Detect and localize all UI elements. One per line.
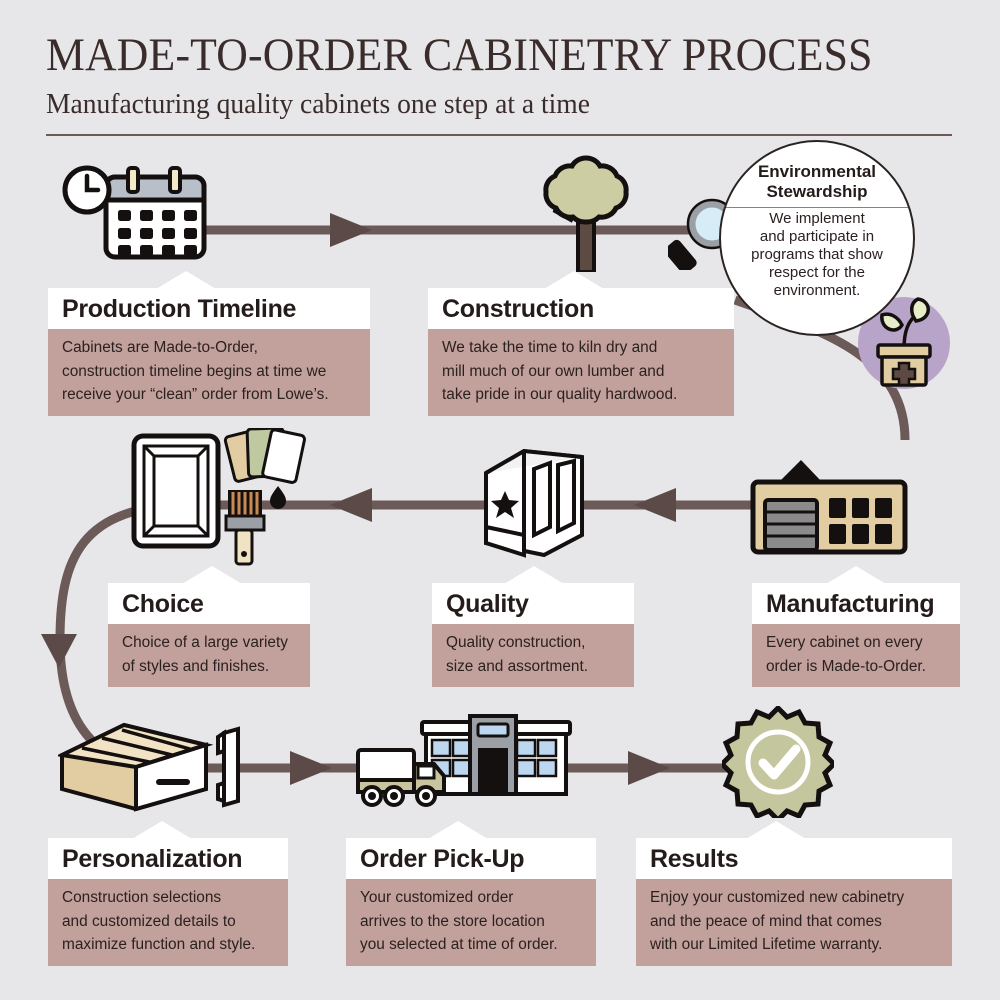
step-body-line: Every cabinet on every [766, 631, 946, 655]
step-body-line: Enjoy your customized new cabinetry [650, 886, 938, 910]
step-body-line: of styles and finishes. [122, 655, 296, 679]
step-body-line: Construction selections [62, 886, 274, 910]
step-body-line: receive your “clean” order from Lowe’s. [62, 383, 356, 407]
step-body-line: take pride in our quality hardwood. [442, 383, 720, 407]
step-title: Personalization [48, 838, 288, 879]
callout-body-line: We implement [751, 210, 883, 228]
step-body-line: Your customized order [360, 886, 582, 910]
callout-body-line: environment. [751, 282, 883, 300]
card-notch [504, 566, 564, 584]
callout-body-line: and participate in [751, 228, 883, 246]
step-title: Quality [432, 583, 634, 624]
cabinet-star-icon [478, 443, 590, 566]
step-card-personalization[interactable]: Personalization Construction selections … [48, 838, 288, 966]
step-body: Every cabinet on every order is Made-to-… [752, 624, 960, 687]
callout-divider [721, 207, 913, 208]
step-body: Your customized order arrives to the sto… [346, 879, 596, 966]
step-card-choice[interactable]: Choice Choice of a large variety of styl… [108, 583, 310, 687]
step-body-line: size and assortment. [446, 655, 620, 679]
step-title: Production Timeline [48, 288, 370, 329]
tree-icon [531, 154, 641, 277]
step-body-line: arrives to the store location [360, 910, 582, 934]
step-body-line: mill much of our own lumber and [442, 360, 720, 384]
step-body-line: We take the time to kiln dry and [442, 336, 720, 360]
step-body: Construction selections and customized d… [48, 879, 288, 966]
step-body-line: Quality construction, [446, 631, 620, 655]
card-notch [182, 566, 242, 584]
step-body-line: construction timeline begins at time we [62, 360, 356, 384]
callout-title-line: Stewardship [758, 182, 876, 202]
card-notch [428, 821, 488, 839]
card-notch [132, 821, 192, 839]
step-body: Quality construction, size and assortmen… [432, 624, 634, 687]
step-title: Choice [108, 583, 310, 624]
step-card-construction[interactable]: Construction We take the time to kiln dr… [428, 288, 734, 416]
infographic-canvas: MADE-TO-ORDER CABINETRY PROCESS Manufact… [0, 0, 1000, 1000]
card-notch [544, 271, 604, 289]
callout-body-line: programs that show [751, 246, 883, 264]
truck-store-icon [352, 712, 574, 817]
step-body-line: you selected at time of order. [360, 933, 582, 957]
step-body-line: Choice of a large variety [122, 631, 296, 655]
step-card-results[interactable]: Results Enjoy your customized new cabine… [636, 838, 952, 966]
step-body-line: Cabinets are Made-to-Order, [62, 336, 356, 360]
step-body-line: and the peace of mind that comes [650, 910, 938, 934]
callout-title: Environmental Stewardship [758, 162, 876, 202]
step-card-order-pick-up[interactable]: Order Pick-Up Your customized order arri… [346, 838, 596, 966]
factory-icon [745, 452, 913, 561]
callout-environmental-stewardship[interactable]: Environmental Stewardship We implement a… [719, 140, 915, 336]
step-body-line: maximize function and style. [62, 933, 274, 957]
door-swatches-brush-icon [130, 428, 315, 573]
calendar-clock-icon [62, 163, 210, 273]
drawer-handle-icon [58, 715, 248, 820]
step-title: Manufacturing [752, 583, 960, 624]
callout-body: We implement and participate in programs… [733, 210, 901, 300]
step-title: Construction [428, 288, 734, 329]
card-notch [156, 271, 216, 289]
step-body-line: order is Made-to-Order. [766, 655, 946, 679]
card-notch [746, 821, 806, 839]
check-badge-icon [722, 706, 834, 823]
step-card-manufacturing[interactable]: Manufacturing Every cabinet on every ord… [752, 583, 960, 687]
step-card-production-timeline[interactable]: Production Timeline Cabinets are Made-to… [48, 288, 370, 416]
callout-body-line: respect for the [751, 264, 883, 282]
step-body: Enjoy your customized new cabinetry and … [636, 879, 952, 966]
callout-title-line: Environmental [758, 162, 876, 182]
step-body: Choice of a large variety of styles and … [108, 624, 310, 687]
step-card-quality[interactable]: Quality Quality construction, size and a… [432, 583, 634, 687]
card-notch [826, 566, 886, 584]
step-body: Cabinets are Made-to-Order, construction… [48, 329, 370, 416]
step-title: Order Pick-Up [346, 838, 596, 879]
step-body-line: and customized details to [62, 910, 274, 934]
step-title: Results [636, 838, 952, 879]
step-body-line: with our Limited Lifetime warranty. [650, 933, 938, 957]
step-body: We take the time to kiln dry and mill mu… [428, 329, 734, 416]
